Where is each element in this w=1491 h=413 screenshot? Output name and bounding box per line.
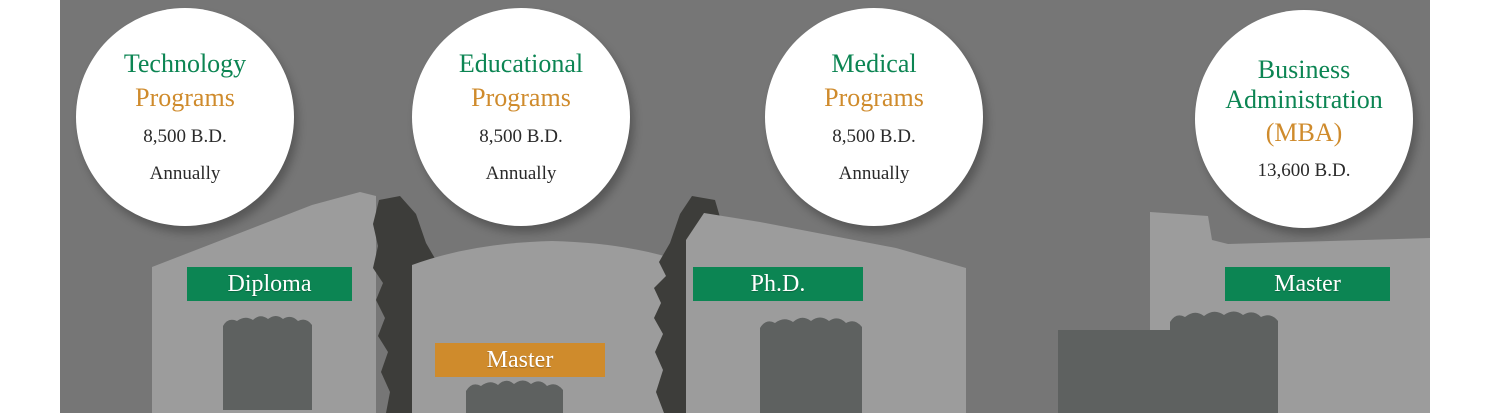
program-period: Annually	[839, 163, 910, 186]
degree-badge-master-mba[interactable]: Master	[1225, 267, 1390, 301]
program-bubble-business-administration[interactable]: Business Administration (MBA) 13,600 B.D…	[1195, 10, 1413, 228]
program-title-orange: (MBA)	[1266, 118, 1343, 147]
program-period: Annually	[150, 163, 221, 186]
program-cost: 8,500 B.D.	[143, 126, 226, 149]
building-1-door	[223, 316, 312, 410]
program-period: Annually	[486, 163, 557, 186]
degree-badge-diploma[interactable]: Diploma	[187, 267, 352, 301]
degree-badge-phd[interactable]: Ph.D.	[693, 267, 863, 301]
program-title-orange: Programs	[471, 83, 571, 112]
program-title-green-line2: Administration	[1225, 85, 1382, 114]
degree-badge-master-educational[interactable]: Master	[435, 343, 605, 377]
program-bubble-medical[interactable]: Medical Programs 8,500 B.D. Annually	[765, 8, 983, 226]
program-title-green: Business	[1258, 55, 1350, 84]
program-title-green: Technology	[124, 49, 246, 78]
program-title-orange: Programs	[824, 83, 924, 112]
program-title-green: Educational	[459, 49, 583, 78]
program-bubble-technology[interactable]: Technology Programs 8,500 B.D. Annually	[76, 8, 294, 226]
building-3-door	[760, 318, 862, 413]
program-cost: 8,500 B.D.	[479, 126, 562, 149]
program-title-orange: Programs	[135, 83, 235, 112]
program-title-green: Medical	[831, 49, 916, 78]
program-cost: 13,600 B.D.	[1258, 160, 1351, 183]
gray-backdrop-panel: Technology Programs 8,500 B.D. Annually …	[60, 0, 1430, 413]
program-bubble-educational[interactable]: Educational Programs 8,500 B.D. Annually	[412, 8, 630, 226]
program-cost: 8,500 B.D.	[832, 126, 915, 149]
infographic-canvas: Technology Programs 8,500 B.D. Annually …	[0, 0, 1491, 413]
